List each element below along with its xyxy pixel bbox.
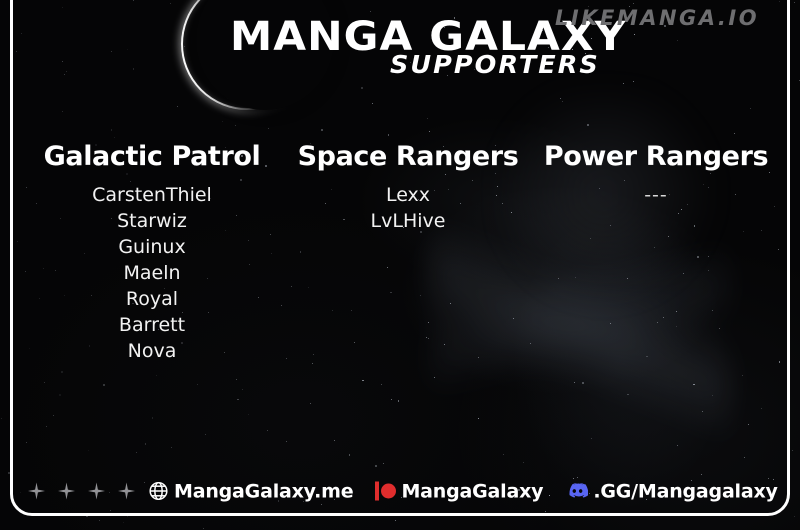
sparkle-icon [58, 483, 75, 500]
header: MANGA GALAXY SUPPORTERS LIKEMANGA.IO [0, 0, 800, 100]
tier-heading: Space Rangers [285, 140, 531, 174]
list-item: Barrett [19, 312, 285, 338]
empty-tier-placeholder: --- [531, 182, 781, 208]
globe-icon [148, 481, 169, 502]
sparkle-icon [118, 483, 135, 500]
patreon-icon [375, 482, 396, 501]
tier-column-space-rangers: Space Rangers Lexx LvLHive [285, 140, 531, 234]
sparkle-decorations [28, 483, 135, 500]
list-item: Royal [19, 286, 285, 312]
discord-link[interactable]: .GG/Mangagalaxy [565, 480, 777, 503]
tier-column-galactic-patrol: Galactic Patrol CarstenThiel Starwiz Gui… [19, 140, 285, 364]
list-item: Nova [19, 338, 285, 364]
list-item: Guinux [19, 234, 285, 260]
list-item: Lexx [285, 182, 531, 208]
list-item: LvLHive [285, 208, 531, 234]
discord-icon [565, 480, 588, 503]
tier-name-list: --- [531, 182, 781, 208]
list-item: Maeln [19, 260, 285, 286]
discord-link-label: .GG/Mangagalaxy [593, 480, 777, 502]
tier-name-list: Lexx LvLHive [285, 182, 531, 234]
footer-links: MangaGalaxy.me MangaGalaxy .GG/Mang [148, 480, 778, 503]
patreon-link[interactable]: MangaGalaxy [375, 480, 543, 502]
website-link[interactable]: MangaGalaxy.me [148, 480, 353, 502]
tier-name-list: CarstenThiel Starwiz Guinux Maeln Royal … [19, 182, 285, 364]
sparkle-icon [28, 483, 45, 500]
website-link-label: MangaGalaxy.me [174, 480, 353, 502]
tier-column-power-rangers: Power Rangers --- [531, 140, 781, 208]
footer: MangaGalaxy.me MangaGalaxy .GG/Mang [0, 470, 800, 512]
supporter-tiers: Galactic Patrol CarstenThiel Starwiz Gui… [18, 140, 782, 390]
list-item: Starwiz [19, 208, 285, 234]
tier-heading: Power Rangers [531, 140, 781, 174]
page-subtitle: SUPPORTERS [390, 50, 600, 79]
patreon-link-label: MangaGalaxy [401, 480, 543, 502]
supporters-card: MANGA GALAXY SUPPORTERS LIKEMANGA.IO Gal… [0, 0, 800, 530]
list-item: CarstenThiel [19, 182, 285, 208]
tier-heading: Galactic Patrol [19, 140, 285, 174]
sparkle-icon [88, 483, 105, 500]
site-watermark: LIKEMANGA.IO [555, 6, 759, 30]
